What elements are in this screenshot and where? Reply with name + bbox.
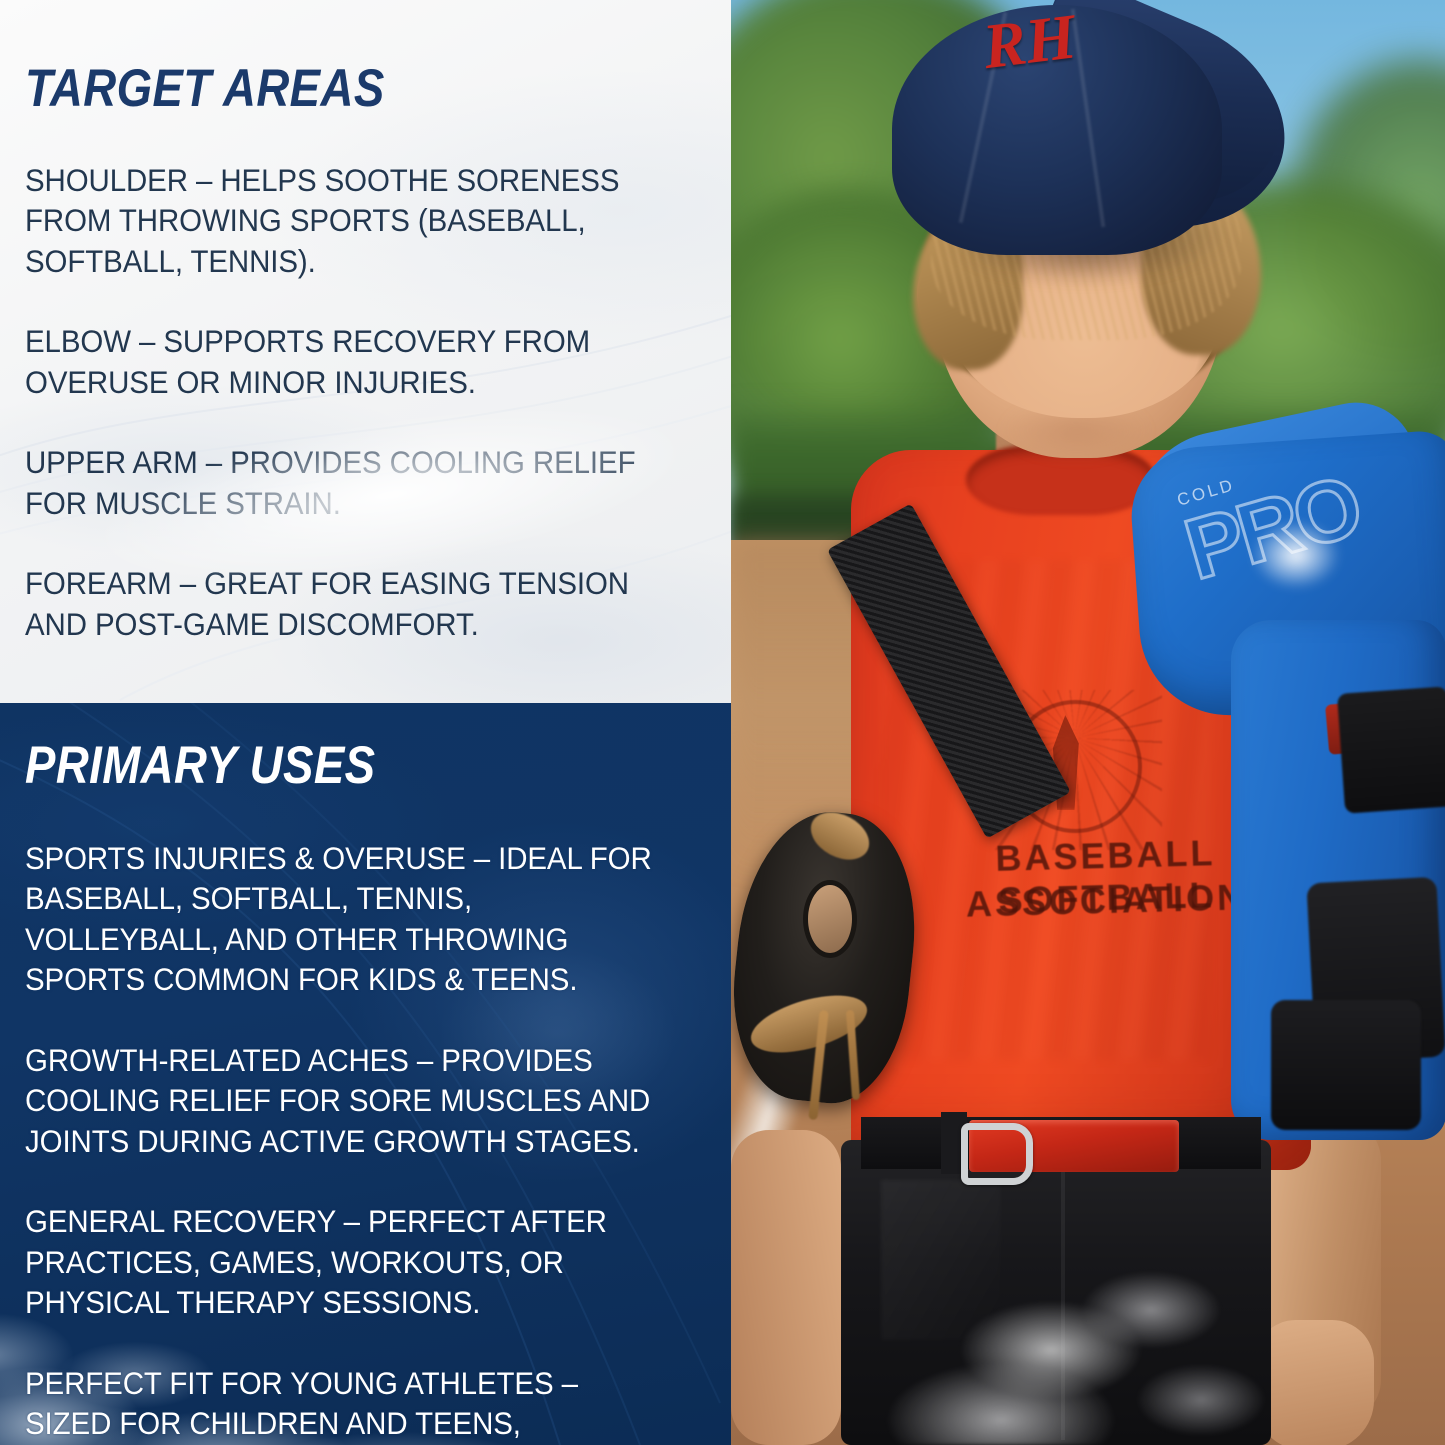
glove-brand-patch bbox=[803, 880, 857, 958]
primary-use-item-general-recovery: GENERAL RECOVERY – PERFECT AFTER PRACTIC… bbox=[25, 1201, 670, 1322]
right-hand bbox=[1254, 1320, 1374, 1445]
belt-buckle bbox=[961, 1123, 1033, 1185]
cap-team-logo: RH bbox=[980, 1, 1109, 93]
product-lifestyle-photo: BASEBALL SOFTBALL ASSOCIATION COLD PRO bbox=[731, 0, 1445, 1445]
target-area-item-elbow: ELBOW – SUPPORTS RECOVERY FROM OVERUSE O… bbox=[25, 321, 670, 402]
ice-wrap-black-strap-lower bbox=[1271, 1000, 1421, 1130]
infographic-page: TARGET AREAS SHOULDER – HELPS SOOTHE SOR… bbox=[0, 0, 1445, 1445]
primary-uses-panel: PRIMARY USES SPORTS INJURIES & OVERUSE –… bbox=[0, 703, 731, 1445]
primary-use-item-sports-injuries: SPORTS INJURIES & OVERUSE – IDEAL FOR BA… bbox=[25, 838, 670, 1000]
pants-seam bbox=[1061, 1150, 1065, 1440]
target-area-item-upper-arm: UPPER ARM – PROVIDES COOLING RELIEF FOR … bbox=[25, 442, 670, 523]
left-column: TARGET AREAS SHOULDER – HELPS SOOTHE SOR… bbox=[0, 0, 731, 1445]
target-area-item-shoulder: SHOULDER – HELPS SOOTHE SORENESS FROM TH… bbox=[25, 160, 670, 281]
primary-use-item-growth-aches: GROWTH-RELATED ACHES – PROVIDES COOLING … bbox=[25, 1040, 670, 1161]
page-title-primary-uses: PRIMARY USES bbox=[25, 739, 375, 792]
primary-uses-text-block: SPORTS INJURIES & OVERUSE – IDEAL FOR BA… bbox=[25, 838, 715, 1445]
target-areas-panel: TARGET AREAS SHOULDER – HELPS SOOTHE SOR… bbox=[0, 0, 731, 703]
target-area-item-forearm: FOREARM – GREAT FOR EASING TENSION AND P… bbox=[25, 563, 670, 644]
ice-wrap-black-strap-upper bbox=[1337, 686, 1445, 813]
primary-use-item-perfect-fit: PERFECT FIT FOR YOUNG ATHLETES – SIZED F… bbox=[25, 1363, 670, 1445]
pants-pocket bbox=[881, 1180, 1001, 1340]
left-arm bbox=[731, 1130, 841, 1445]
target-areas-text-block: SHOULDER – HELPS SOOTHE SORENESS FROM TH… bbox=[25, 160, 715, 684]
sun-glare-highlight bbox=[1251, 520, 1341, 590]
page-title-target-areas: TARGET AREAS bbox=[25, 62, 385, 115]
